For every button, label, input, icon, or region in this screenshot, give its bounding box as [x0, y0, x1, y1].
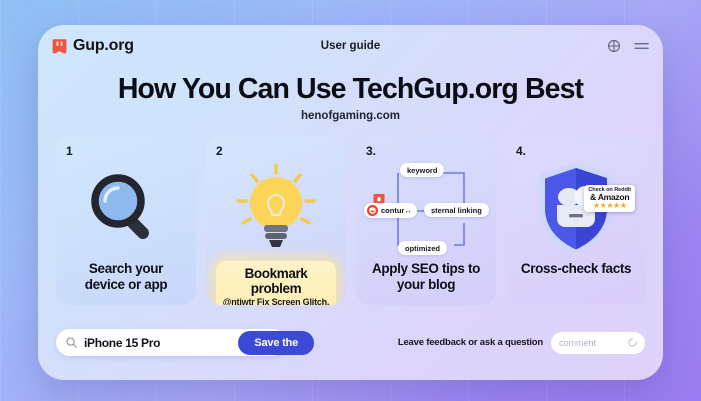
search-value: iPhone 15 Pro: [84, 336, 160, 350]
comment-input[interactable]: comment: [551, 332, 645, 354]
card-apply-seo[interactable]: 3.: [356, 137, 496, 305]
hamburger-menu-icon[interactable]: [634, 40, 649, 52]
flow-node-internal-linking[interactable]: sternal linking: [424, 203, 489, 217]
card-label: Cross-check facts: [514, 261, 638, 277]
highlight-title: Bookmark problem: [220, 266, 332, 296]
hero: How You Can Use TechGup.org Best henofga…: [38, 75, 663, 122]
card-number: 4.: [516, 144, 526, 158]
flow-node-contur[interactable]: contur↔: [364, 203, 417, 218]
card-search-device[interactable]: 1 Search your device or app: [56, 137, 196, 305]
search-group: iPhone 15 Pro Save the: [56, 329, 286, 356]
feedback-group: Leave feedback or ask a question comment: [398, 332, 645, 354]
bookmark-highlight[interactable]: Bookmark problem @ntiwtr Fix Screen Glit…: [216, 261, 336, 305]
header-bar: Gup.org User guide: [38, 25, 663, 67]
lightbulb-icon: [234, 163, 318, 255]
card-art: [214, 157, 338, 261]
card-art: [64, 157, 188, 261]
page-title: How You Can Use TechGup.org Best: [38, 75, 663, 105]
seo-flow-diagram-icon: keyword sternal linking optimized contur…: [364, 161, 488, 257]
status-badge[interactable]: Check on Reddit & Amazon ★★★★★: [584, 185, 635, 212]
search-icon: [66, 337, 77, 348]
card-art: Check on Reddit & Amazon ★★★★★: [514, 157, 638, 261]
card-cross-check-facts[interactable]: 4. Check on Reddit & Amazon: [506, 137, 646, 305]
flow-node-optimized[interactable]: optimized: [398, 241, 447, 255]
header-title: User guide: [38, 40, 663, 52]
card-number: 3.: [366, 144, 376, 158]
flow-node-keyword[interactable]: keyword: [400, 163, 444, 177]
loading-spinner-icon: [628, 338, 637, 347]
feedback-label: Leave feedback or ask a question: [398, 337, 543, 348]
flow-node-contur-label: contur↔: [381, 206, 412, 215]
card-number: 1: [66, 144, 73, 158]
reddit-icon: [367, 205, 378, 216]
card-label: Search your device or app: [64, 261, 188, 293]
card-art: keyword sternal linking optimized contur…: [364, 157, 488, 261]
card-bookmark-problem[interactable]: 2 Bookmark problem @ntiwtr Fi: [206, 137, 346, 305]
app-window: Gup.org User guide How You Can Use TechG…: [38, 25, 663, 380]
bottom-bar: iPhone 15 Pro Save the Leave feedback or…: [56, 329, 645, 356]
comment-placeholder: comment: [559, 338, 596, 348]
magnifying-glass-icon: [87, 170, 165, 248]
step-cards: 1 Search your device or app 2: [56, 137, 646, 305]
highlight-subtitle: @ntiwtr Fix Screen Glitch.: [220, 297, 332, 305]
card-number: 2: [216, 144, 223, 158]
card-label: Apply SEO tips to your blog: [364, 261, 488, 293]
badge-stars: ★★★★★: [588, 202, 631, 210]
header-icons: [607, 39, 649, 53]
page-subtitle: henofgaming.com: [38, 110, 663, 122]
save-button[interactable]: Save the: [238, 331, 314, 355]
globe-icon[interactable]: [607, 39, 621, 53]
